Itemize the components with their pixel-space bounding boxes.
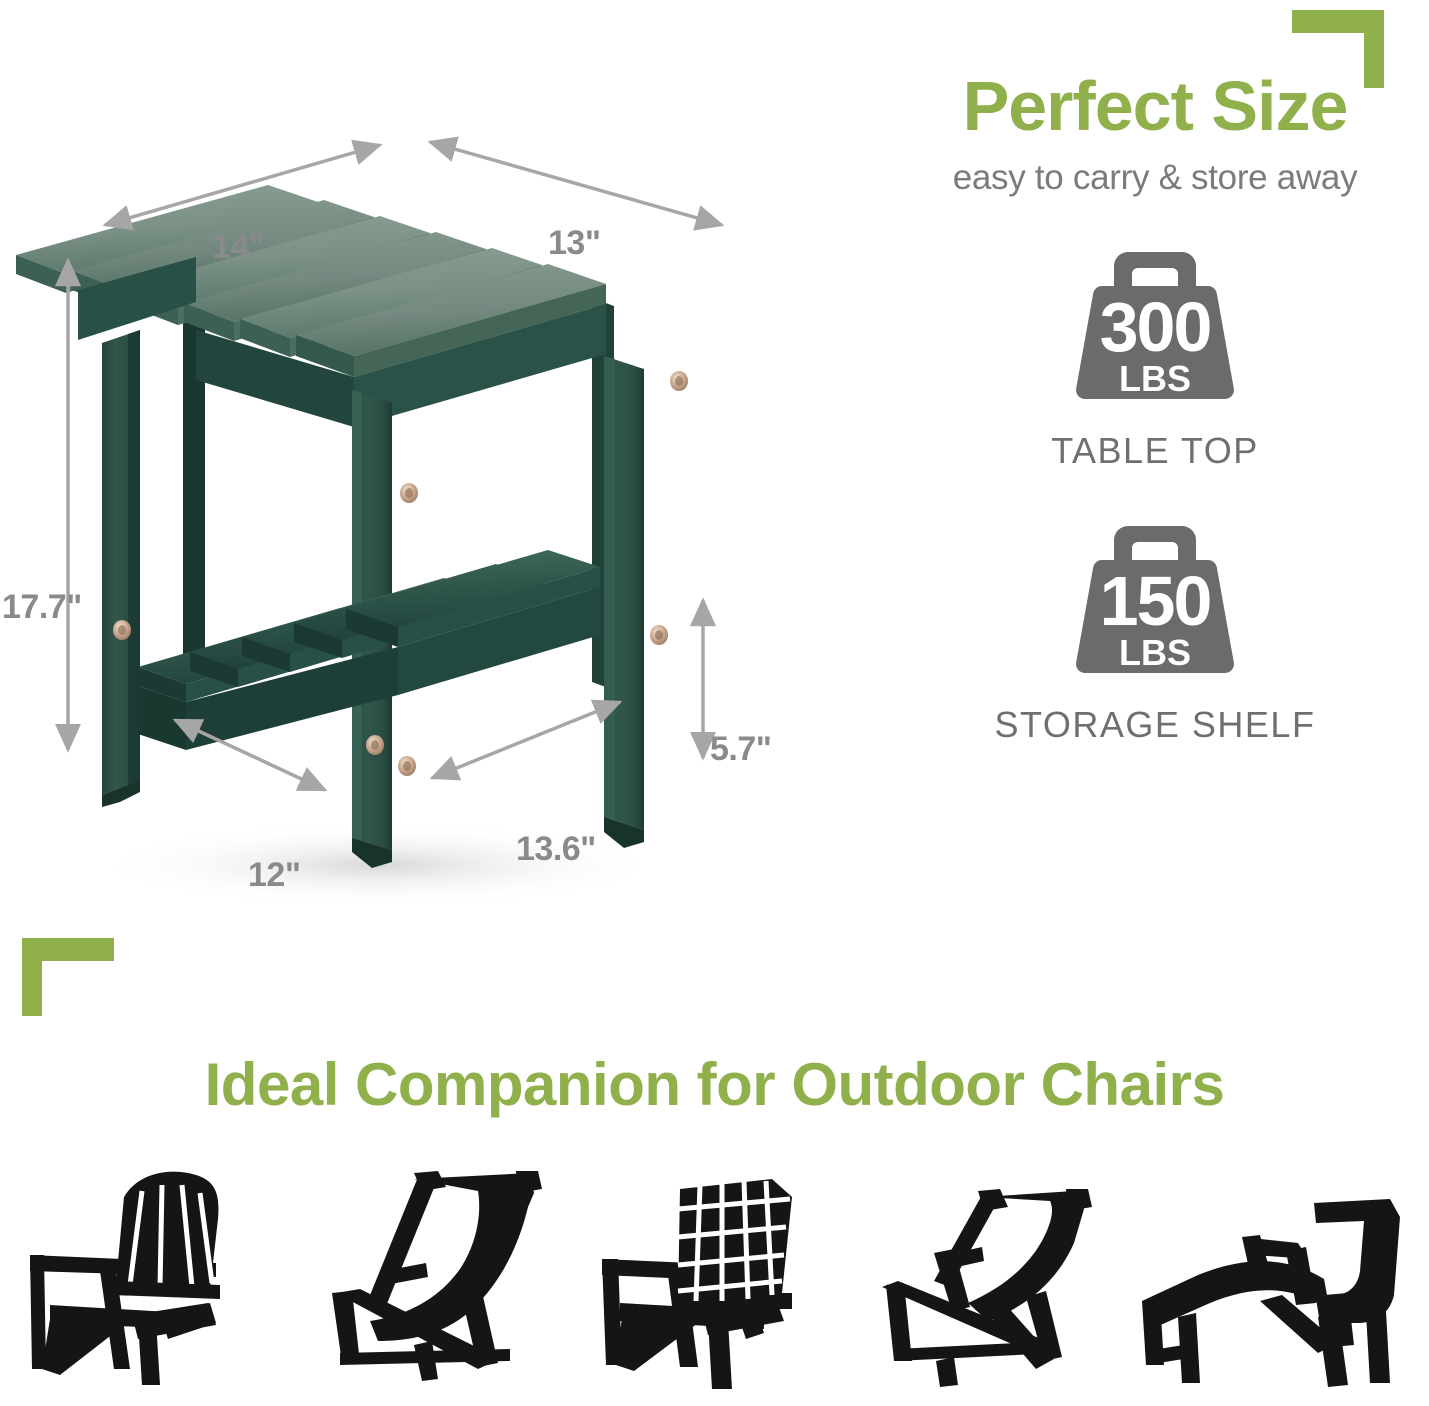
dimension-label-top-width: 14" (212, 228, 264, 267)
section-title-companion: Ideal Companion for Outdoor Chairs (0, 1050, 1429, 1119)
capacity-label: TABLE TOP (1051, 430, 1259, 472)
corner-bracket-bottom-left (22, 938, 114, 1016)
chair-silhouette-row (20, 1150, 1410, 1395)
dimension-label-shelf-height: 5.7" (710, 730, 771, 769)
capacity-label: STORAGE SHELF (995, 704, 1316, 746)
chair-silhouette-adirondack-fan-back (20, 1163, 288, 1395)
chair-silhouette-lattice-adirondack (596, 1163, 848, 1395)
page-title: Perfect Size (905, 70, 1405, 144)
side-table-illustration (0, 90, 860, 920)
capacity-unit: LBS (1060, 635, 1250, 671)
weight-icon: 150 LBS (1060, 518, 1250, 690)
capacity-value: 300 (1060, 292, 1250, 362)
perfect-size-section: Perfect Size easy to carry & store away … (905, 70, 1405, 746)
dimension-label-base-width: 12" (248, 856, 300, 895)
capacity-storage-shelf: 150 LBS STORAGE SHELF (905, 518, 1405, 746)
page-subtitle: easy to carry & store away (905, 158, 1405, 198)
capacity-table-top: 300 LBS TABLE TOP (905, 244, 1405, 472)
chair-silhouette-folding-sling (318, 1163, 566, 1395)
bracket-arm-vertical (22, 938, 42, 1016)
chair-silhouette-chaise-lounge (1138, 1195, 1410, 1395)
capacity-value: 150 (1060, 566, 1250, 636)
weight-icon: 300 LBS (1060, 244, 1250, 416)
product-diagram: 14" 13" 17.7" 12" 13.6" 5.7" (0, 90, 860, 920)
dimension-label-shelf-depth: 13.6" (516, 830, 596, 869)
dimension-label-top-depth: 13" (548, 224, 600, 263)
capacity-unit: LBS (1060, 361, 1250, 397)
dimension-label-total-height: 17.7" (2, 588, 82, 627)
chair-silhouette-folding-deck (878, 1163, 1108, 1395)
